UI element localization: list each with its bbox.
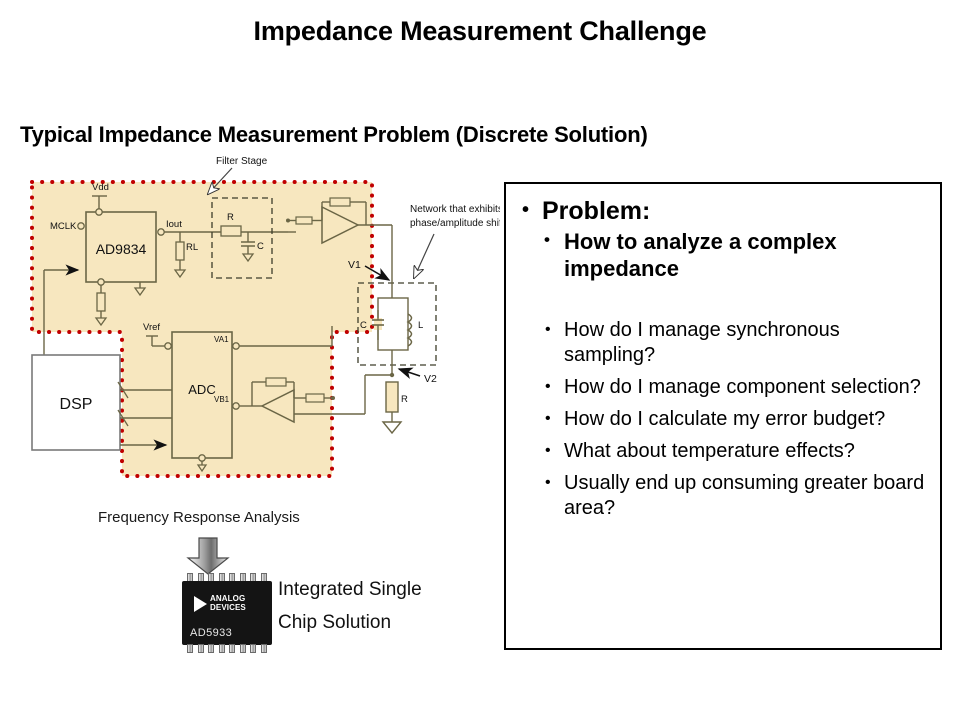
svg-text:R: R: [401, 394, 408, 405]
svg-text:RL: RL: [186, 242, 198, 253]
analog-devices-logo-icon: ANALOG DEVICES: [194, 595, 246, 612]
chip-caption-line-2: Chip Solution: [278, 606, 498, 639]
filter-stage-label: Filter Stage: [216, 156, 268, 167]
section-title: Typical Impedance Measurement Problem (D…: [20, 122, 648, 148]
svg-text:C: C: [360, 320, 367, 331]
svg-text:ADC: ADC: [188, 382, 215, 397]
chip-pin: [229, 644, 235, 653]
list-item: What about temperature effects?: [538, 439, 930, 464]
network-label-2: phase/amplitude shift: [410, 218, 500, 229]
chip-pins-bottom: [187, 644, 267, 653]
chip-body: ANALOG DEVICES AD5933: [182, 581, 272, 645]
svg-text:V2: V2: [424, 373, 437, 385]
logo-line-2: DEVICES: [210, 603, 246, 612]
svg-text:L: L: [418, 320, 423, 331]
list-item: How do I manage component selection?: [538, 375, 930, 400]
triangle-icon: [194, 596, 207, 612]
ad5933-chip: ANALOG DEVICES AD5933: [182, 573, 272, 653]
problem-question-list: How do I manage synchronous sampling? Ho…: [516, 318, 930, 521]
svg-text:Vdd: Vdd: [92, 182, 109, 193]
svg-text:V1: V1: [348, 259, 361, 271]
chip-pin: [208, 644, 214, 653]
problem-text-box: Problem: How to analyze a complex impeda…: [504, 182, 942, 650]
list-item: Usually end up consuming greater board a…: [538, 471, 930, 521]
list-item: How do I manage synchronous sampling?: [538, 318, 930, 368]
down-arrow-icon: [183, 536, 233, 576]
circuit-diagram: AD9834 Vdd MCLK Iout RL: [0, 150, 500, 550]
chip-part-number: AD5933: [190, 627, 232, 639]
problem-subheading: How to analyze a complex impedance: [534, 228, 930, 282]
fra-caption: Frequency Response Analysis: [98, 509, 300, 526]
list-item: How do I calculate my error budget?: [538, 407, 930, 432]
svg-text:R: R: [227, 212, 234, 223]
problem-heading: Problem:: [516, 196, 930, 226]
svg-text:Vref: Vref: [143, 322, 160, 333]
svg-text:MCLK: MCLK: [50, 221, 77, 232]
slide-canvas: Impedance Measurement Challenge Typical …: [0, 0, 960, 720]
chip-pin: [261, 644, 267, 653]
chip-logo-text: ANALOG DEVICES: [210, 595, 246, 612]
svg-text:C: C: [257, 241, 264, 252]
svg-text:Iout: Iout: [166, 219, 182, 230]
svg-text:VB1: VB1: [214, 395, 230, 404]
svg-text:AD9834: AD9834: [96, 241, 147, 257]
chip-pin: [240, 644, 246, 653]
svg-text:DSP: DSP: [60, 396, 93, 413]
chip-caption: Integrated Single Chip Solution: [278, 573, 498, 639]
network-label-1: Network that exhibits: [410, 204, 500, 215]
chip-pin: [219, 644, 225, 653]
page-title: Impedance Measurement Challenge: [0, 16, 960, 47]
chip-pin: [187, 644, 193, 653]
chip-caption-line-1: Integrated Single: [278, 573, 498, 606]
svg-text:VA1: VA1: [214, 335, 229, 344]
problem-bullet-list: Problem: How to analyze a complex impeda…: [516, 196, 930, 282]
chip-pin: [250, 644, 256, 653]
chip-pin: [198, 644, 204, 653]
